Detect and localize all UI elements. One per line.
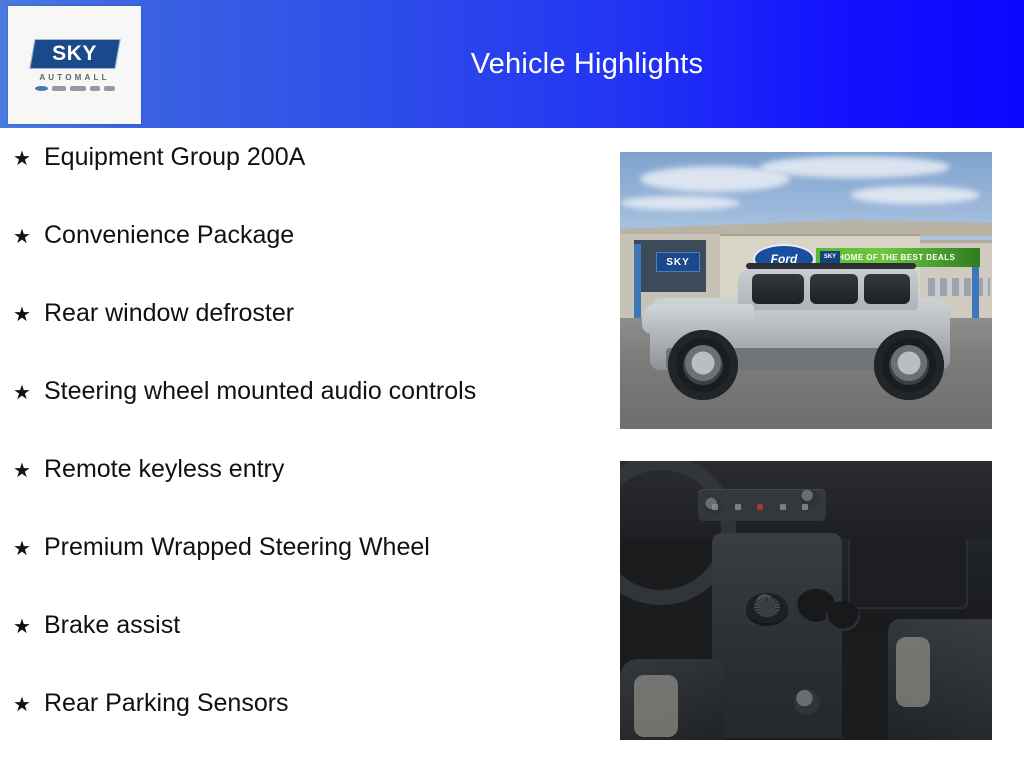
defrost-button-icon [712,504,718,510]
dealership-sky-sign: SKY [656,252,700,272]
vent-mode-button-icon [735,504,741,510]
feature-label: Equipment Group 200A [44,145,305,170]
feature-label: Steering wheel mounted audio controls [44,379,476,404]
vehicle-exterior-photo: SKY Ford HOME OF THE BEST DEALS SKY [620,152,992,429]
star-icon: ★ [0,305,44,325]
feature-label: Rear Parking Sensors [44,691,289,716]
brand-mark-icon-4 [104,86,115,91]
star-icon: ★ [0,227,44,247]
climate-button-row [712,503,808,511]
vehicle-front-window [752,274,804,304]
dealer-logo-card[interactable]: SKY AUTOMALL [8,6,141,124]
list-item: ★ Rear Parking Sensors [0,691,600,769]
feature-label: Brake assist [44,613,180,638]
brand-mark-icon-3 [90,86,100,91]
sky-badge-label: SKY [32,39,118,69]
support-post [634,244,641,324]
star-icon: ★ [0,539,44,559]
ford-oval-icon [35,86,48,91]
recirc-button-icon [802,504,808,510]
automall-label: AUTOMALL [39,73,109,82]
shifter-dial-icon [754,597,780,617]
list-item: ★ Steering wheel mounted audio controls [0,379,600,457]
list-item: ★ Brake assist [0,613,600,691]
feature-label: Remote keyless entry [44,457,284,482]
driver-seat-insert [634,675,678,737]
feature-label: Rear window defroster [44,301,294,326]
list-item: ★ Convenience Package [0,223,600,301]
star-icon: ★ [0,149,44,169]
star-icon: ★ [0,617,44,637]
slide-header: Vehicle Highlights SKY AUTOMALL [0,0,1024,128]
cupholder-rear [826,601,860,631]
list-item: ★ Rear window defroster [0,301,600,379]
ac-button-icon [780,504,786,510]
cloud-shape [850,186,980,204]
vehicle-front-wheel [668,330,738,400]
cloud-shape [760,156,950,178]
passenger-seat-insert [896,637,930,707]
list-item: ★ Remote keyless entry [0,457,600,535]
star-icon: ★ [0,461,44,481]
vehicle-rear-wheel [874,330,944,400]
vehicle-interior-photo [620,461,992,740]
sky-badge: SKY [32,39,118,69]
cloud-shape [620,196,740,210]
brand-mark-icon-1 [52,86,66,91]
page-title: Vehicle Highlights [150,0,1024,128]
lot-vehicles [928,278,990,296]
vehicle-roof-rail [746,263,916,269]
list-item: ★ Equipment Group 200A [0,145,600,223]
drive-mode-selector-icon [794,689,820,715]
star-icon: ★ [0,695,44,715]
center-console [712,533,842,738]
oem-brand-strip [35,85,115,92]
vehicle-rear-window [810,274,858,304]
dealer-logo: SKY AUTOMALL [32,39,118,92]
banner-sky-chip: SKY [820,251,840,263]
floor-mat [848,535,968,609]
vehicle-quarter-window [864,274,910,304]
feature-label: Premium Wrapped Steering Wheel [44,535,430,560]
brand-mark-icon-2 [70,86,86,91]
features-list: ★ Equipment Group 200A ★ Convenience Pac… [0,145,600,769]
hazard-button-icon [757,504,763,510]
feature-label: Convenience Package [44,223,294,248]
list-item: ★ Premium Wrapped Steering Wheel [0,535,600,613]
star-icon: ★ [0,383,44,403]
